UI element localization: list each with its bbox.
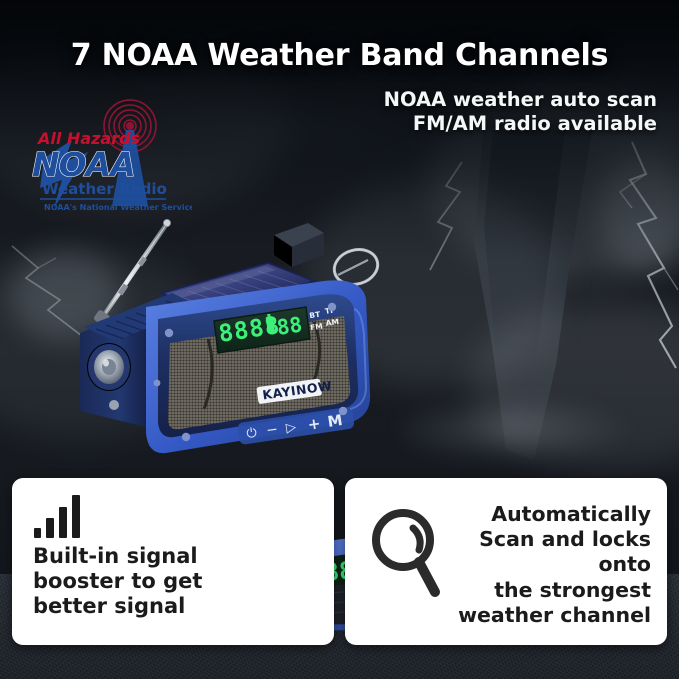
subheadline-line-2: FM/AM radio available — [237, 112, 657, 136]
card1-line-2: booster to get — [33, 569, 283, 594]
power-button[interactable]: ⏻ — [245, 426, 257, 442]
flashlight-lens — [87, 343, 131, 391]
signal-bar-2 — [46, 518, 54, 538]
hand-crank-knob — [274, 223, 324, 267]
plus-button[interactable]: + — [307, 414, 322, 434]
subheadline-line-1: NOAA weather auto scan — [237, 88, 657, 112]
card1-line-3: better signal — [33, 594, 283, 619]
card2-line-1: Automatically — [421, 502, 651, 527]
product-marketing-image: 7 NOAA Weather Band Channels NOAA weathe… — [0, 0, 679, 679]
feature-card-auto-scan: Automatically Scan and locks onto the st… — [345, 478, 667, 645]
card2-line-3: the strongest — [421, 578, 651, 603]
product-radio-main: 8888 88 BT TF FM AM KAYINOW — [62, 215, 392, 480]
minus-button[interactable]: − — [265, 421, 279, 439]
page-title: 7 NOAA Weather Band Channels — [0, 38, 679, 73]
logo-weather-radio-text: Weather Radio — [42, 180, 167, 198]
feature-card-signal-booster: Built-in signal booster to get better si… — [12, 478, 334, 645]
card1-line-1: Built-in signal — [33, 544, 283, 569]
signal-bars-icon — [34, 494, 92, 538]
feature-card-text: Built-in signal booster to get better si… — [33, 544, 283, 620]
logo-tagline-text: NOAA's National Weather Service — [44, 203, 192, 212]
label-fm: FM — [310, 321, 324, 332]
subheadline: NOAA weather auto scan FM/AM radio avail… — [237, 88, 657, 136]
signal-bar-3 — [59, 507, 67, 538]
side-screw — [109, 400, 119, 410]
feature-card-text: Automatically Scan and locks onto the st… — [421, 502, 651, 628]
card2-line-4: weather channel — [421, 603, 651, 628]
card2-line-2: Scan and locks onto — [421, 527, 651, 577]
signal-bar-1 — [34, 528, 41, 538]
logo-noaa-text: NOAA — [32, 145, 135, 184]
antenna-tip — [163, 219, 170, 226]
noaa-weather-radio-logo: All Hazards NOAA Weather Radio NOAA's Na… — [14, 96, 192, 222]
lcd-channel-digits: 88 — [275, 312, 304, 339]
signal-bar-4 — [72, 495, 80, 538]
